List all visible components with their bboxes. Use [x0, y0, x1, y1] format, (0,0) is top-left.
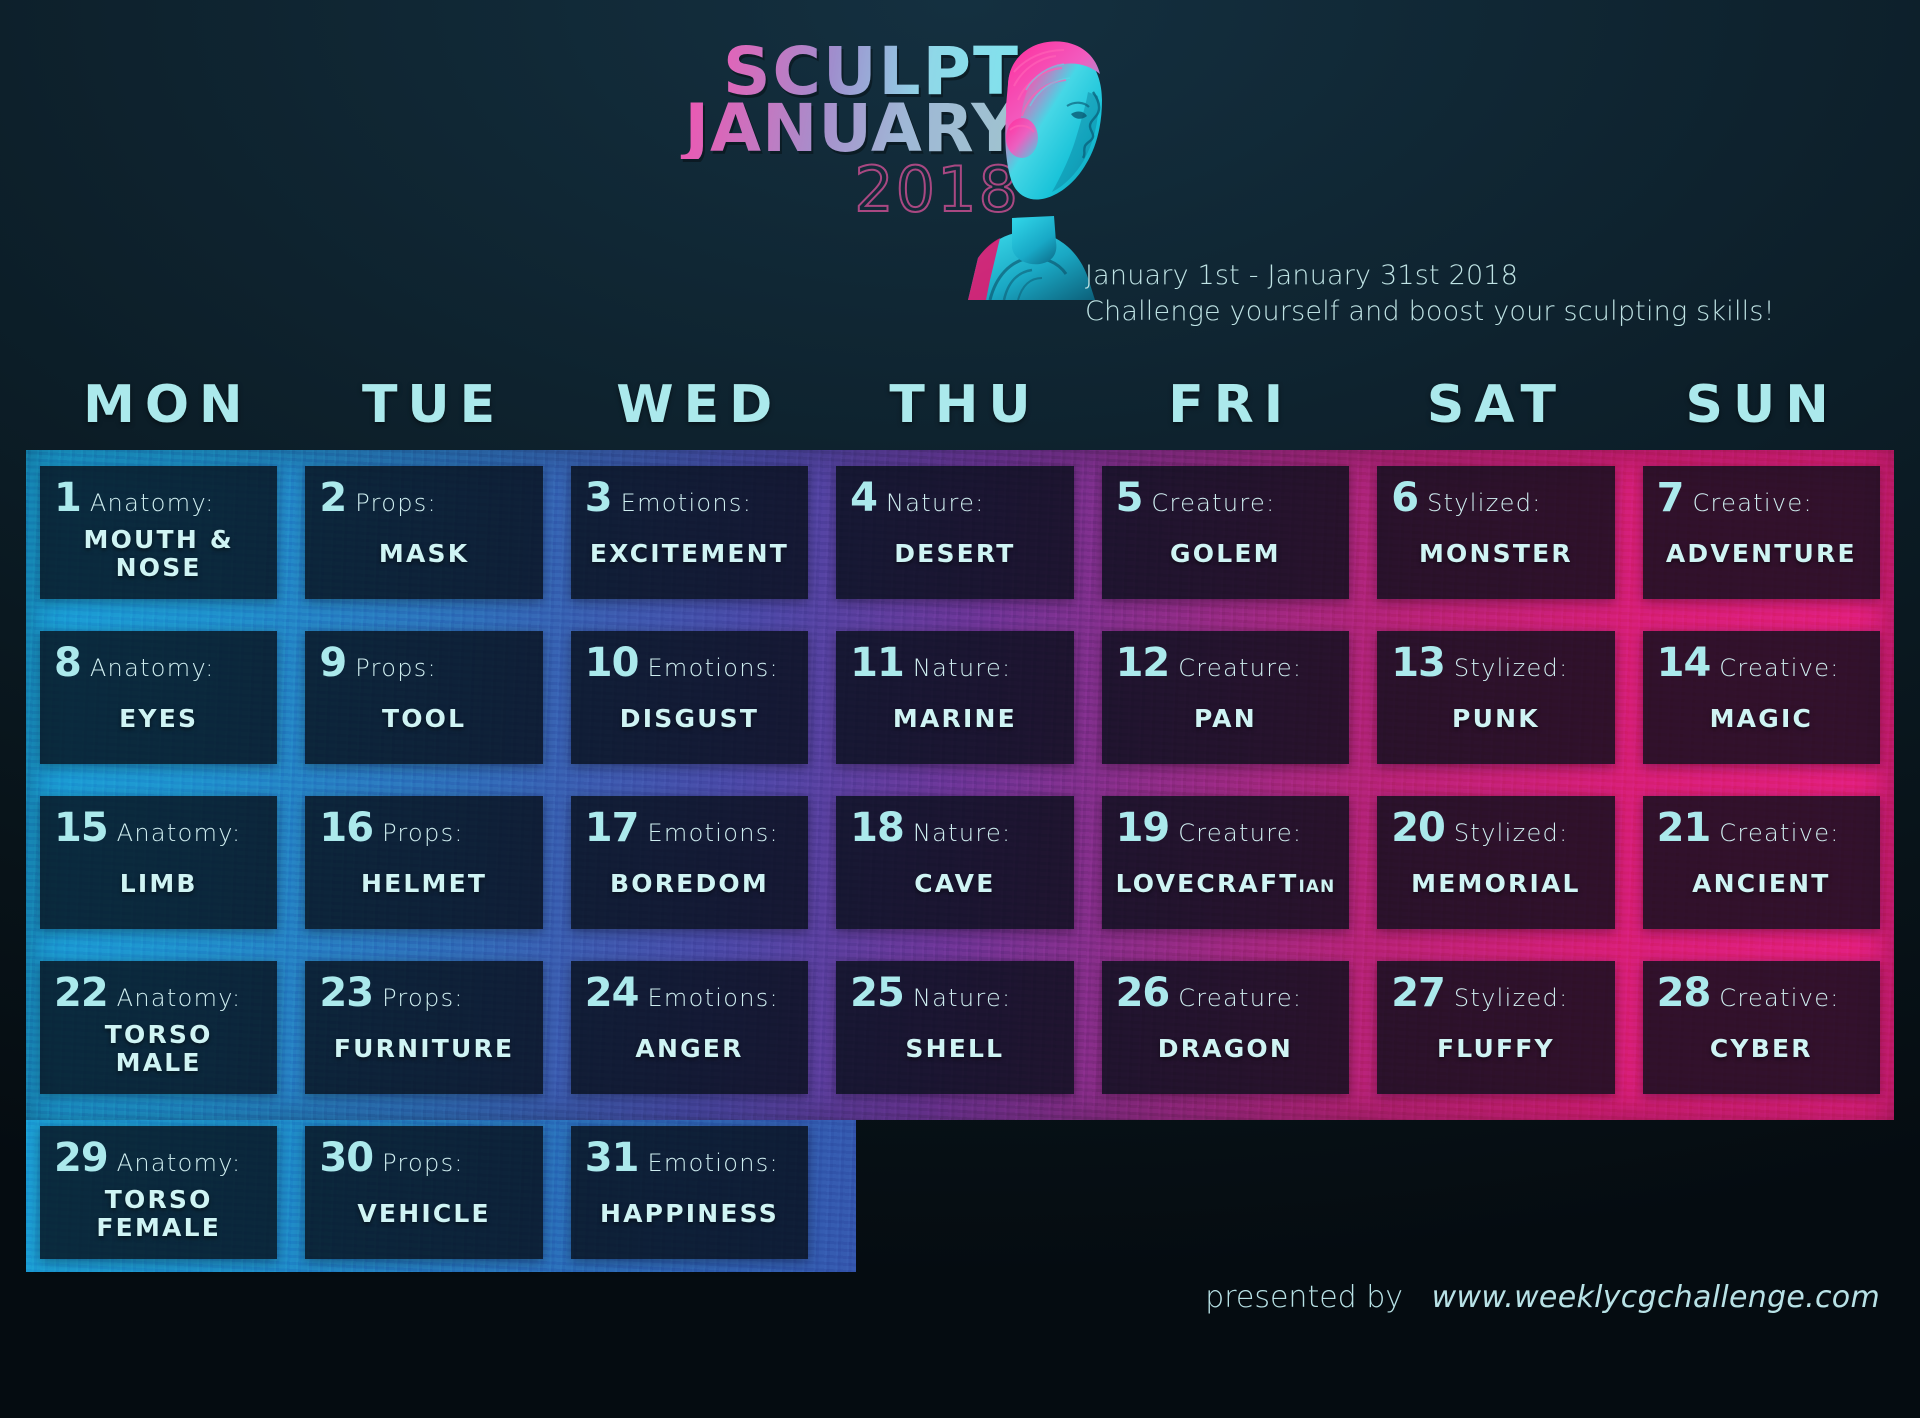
topic-label: HAPPINESS — [600, 1200, 779, 1228]
category-label: Props: — [355, 656, 437, 680]
calendar-cell[interactable]: 1Anatomy:MOUTH &NOSE — [40, 466, 277, 599]
calendar-cell-header: 28Creative: — [1657, 973, 1866, 1019]
topic-label: LOVECRAFTIAN — [1116, 870, 1336, 898]
topic-label: VEHICLE — [357, 1200, 490, 1228]
topic-container: LOVECRAFTIAN — [1116, 854, 1336, 915]
weekday-thu: THU — [827, 375, 1093, 435]
calendar-cell-header: 9Props: — [319, 643, 528, 689]
calendar-cell-header: 29Anatomy: — [54, 1138, 263, 1184]
category-label: Emotions: — [647, 821, 779, 845]
day-number: 9 — [319, 643, 346, 683]
topic-label: DRAGON — [1158, 1035, 1293, 1063]
weekday-mon: MON — [30, 375, 296, 435]
calendar-cell-header: 16Props: — [319, 808, 528, 854]
calendar-cell[interactable]: 20Stylized:MEMORIAL — [1377, 796, 1614, 929]
calendar-cell-header: 8Anatomy: — [54, 643, 263, 689]
calendar-cell-header: 21Creative: — [1657, 808, 1866, 854]
calendar-cell-header: 5Creature: — [1116, 478, 1336, 524]
topic-label: LIMB — [120, 870, 198, 898]
topic-label: PAN — [1194, 705, 1257, 733]
weekday-header-row: MON TUE WED THU FRI SAT SUN — [30, 375, 1890, 435]
category-label: Creature: — [1178, 986, 1302, 1010]
topic-container: EXCITEMENT — [585, 524, 794, 585]
topic-container: PUNK — [1391, 689, 1600, 750]
day-number: 18 — [850, 808, 904, 848]
subtitle-dates: January 1st - January 31st 2018 — [1085, 258, 1775, 294]
calendar-cell[interactable]: 4Nature:DESERT — [836, 466, 1073, 599]
footer-presented-by: presented by — [1205, 1280, 1403, 1315]
calendar-cell-header: 10Emotions: — [585, 643, 794, 689]
calendar-cell-header: 7Creative: — [1657, 478, 1866, 524]
topic-suffix: IAN — [1299, 877, 1336, 897]
category-label: Anatomy: — [90, 491, 215, 515]
day-number: 20 — [1391, 808, 1445, 848]
category-label: Stylized: — [1427, 491, 1542, 515]
calendar-cell-header: 18Nature: — [850, 808, 1059, 854]
topic-container: MARINE — [850, 689, 1059, 750]
category-label: Creature: — [1151, 491, 1275, 515]
calendar-cell-header: 23Props: — [319, 973, 528, 1019]
calendar-cell-header: 14Creative: — [1657, 643, 1866, 689]
topic-label: HELMET — [361, 870, 487, 898]
day-number: 19 — [1116, 808, 1170, 848]
category-label: Creature: — [1178, 821, 1302, 845]
day-number: 17 — [585, 808, 639, 848]
calendar-cell[interactable]: 9Props:TOOL — [305, 631, 542, 764]
footer-credit: presented by www.weeklycgchallenge.com — [1205, 1280, 1880, 1315]
calendar-grid: 1Anatomy:MOUTH &NOSE2Props:MASK3Emotions… — [26, 450, 1894, 1275]
category-label: Props: — [355, 491, 437, 515]
calendar-cell-header: 26Creature: — [1116, 973, 1336, 1019]
category-label: Stylized: — [1454, 986, 1569, 1010]
category-label: Creature: — [1178, 656, 1302, 680]
topic-container: HAPPINESS — [585, 1184, 794, 1245]
calendar-cell[interactable]: 10Emotions:DISGUST — [571, 631, 808, 764]
day-number: 7 — [1657, 478, 1684, 518]
calendar-cell[interactable]: 23Props:FURNITURE — [305, 961, 542, 1094]
day-number: 24 — [585, 973, 639, 1013]
calendar-cell-header: 20Stylized: — [1391, 808, 1600, 854]
topic-container: VEHICLE — [319, 1184, 528, 1245]
topic-container: ANCIENT — [1657, 854, 1866, 915]
category-label: Nature: — [886, 491, 985, 515]
topic-container: ANGER — [585, 1019, 794, 1080]
day-number: 26 — [1116, 973, 1170, 1013]
calendar-cell[interactable]: 15Anatomy:LIMB — [40, 796, 277, 929]
category-label: Stylized: — [1454, 656, 1569, 680]
calendar-cell[interactable]: 28Creative:CYBER — [1643, 961, 1880, 1094]
calendar-cell-header: 12Creature: — [1116, 643, 1336, 689]
calendar-cell-empty — [1102, 1126, 1350, 1259]
calendar-cell[interactable]: 29Anatomy:TORSOFEMALE — [40, 1126, 277, 1259]
topic-label: MAGIC — [1710, 705, 1813, 733]
topic-container: MEMORIAL — [1391, 854, 1600, 915]
calendar-cell-header: 13Stylized: — [1391, 643, 1600, 689]
day-number: 31 — [585, 1138, 639, 1178]
day-number: 27 — [1391, 973, 1445, 1013]
calendar-cell[interactable]: 8Anatomy:EYES — [40, 631, 277, 764]
calendar-cell[interactable]: 22Anatomy:TORSOMALE — [40, 961, 277, 1094]
topic-container: MASK — [319, 524, 528, 585]
category-label: Props: — [382, 821, 464, 845]
topic-label: EYES — [119, 705, 198, 733]
topic-label: BOREDOM — [610, 870, 769, 898]
calendar-cell[interactable]: 12Creature:PAN — [1102, 631, 1350, 764]
calendar-cell-header: 31Emotions: — [585, 1138, 794, 1184]
day-number: 11 — [850, 643, 904, 683]
category-label: Anatomy: — [90, 656, 215, 680]
topic-label: MASK — [379, 540, 469, 568]
calendar-cell[interactable]: 3Emotions:EXCITEMENT — [571, 466, 808, 599]
calendar-cell[interactable]: 16Props:HELMET — [305, 796, 542, 929]
calendar-cell[interactable]: 31Emotions:HAPPINESS — [571, 1126, 808, 1259]
calendar-cell-header: 15Anatomy: — [54, 808, 263, 854]
category-label: Stylized: — [1454, 821, 1569, 845]
day-number: 8 — [54, 643, 81, 683]
topic-container: SHELL — [850, 1019, 1059, 1080]
day-number: 29 — [54, 1138, 108, 1178]
calendar-cell[interactable]: 13Stylized:PUNK — [1377, 631, 1614, 764]
calendar-cell[interactable]: 2Props:MASK — [305, 466, 542, 599]
topic-container: TORSOMALE — [54, 1019, 263, 1080]
topic-label: CYBER — [1710, 1035, 1813, 1063]
calendar-cell[interactable]: 11Nature:MARINE — [836, 631, 1073, 764]
category-label: Creative: — [1692, 491, 1812, 515]
topic-container: FURNITURE — [319, 1019, 528, 1080]
poster-header: SCULPT JANUARY 2018 — [0, 0, 1920, 360]
category-label: Anatomy: — [117, 821, 242, 845]
topic-container: ADVENTURE — [1657, 524, 1866, 585]
topic-container: CAVE — [850, 854, 1059, 915]
topic-label: CAVE — [914, 870, 995, 898]
topic-container: DRAGON — [1116, 1019, 1336, 1080]
calendar-cell[interactable]: 30Props:VEHICLE — [305, 1126, 542, 1259]
topic-label: FURNITURE — [334, 1035, 514, 1063]
footer-url[interactable]: www.weeklycgchallenge.com — [1432, 1280, 1880, 1315]
event-subtitle: January 1st - January 31st 2018 Challeng… — [1085, 258, 1775, 331]
topic-label: MONSTER — [1419, 540, 1573, 568]
calendar-cell[interactable]: 7Creative:ADVENTURE — [1643, 466, 1880, 599]
weekday-sat: SAT — [1359, 375, 1625, 435]
day-number: 3 — [585, 478, 612, 518]
calendar-cell[interactable]: 17Emotions:BOREDOM — [571, 796, 808, 929]
category-label: Creative: — [1719, 656, 1839, 680]
calendar-cell[interactable]: 26Creature:DRAGON — [1102, 961, 1350, 1094]
day-number: 10 — [585, 643, 639, 683]
topic-label: PUNK — [1452, 705, 1540, 733]
calendar-cell-header: 17Emotions: — [585, 808, 794, 854]
topic-label: TORSOMALE — [105, 1021, 213, 1077]
topic-label: FLUFFY — [1437, 1035, 1555, 1063]
category-label: Creative: — [1719, 986, 1839, 1010]
day-number: 15 — [54, 808, 108, 848]
category-label: Creative: — [1719, 821, 1839, 845]
calendar-cell-header: 30Props: — [319, 1138, 528, 1184]
category-label: Anatomy: — [117, 986, 242, 1010]
topic-container: HELMET — [319, 854, 528, 915]
day-number: 2 — [319, 478, 346, 518]
calendar-cell[interactable]: 19Creature:LOVECRAFTIAN — [1102, 796, 1350, 929]
calendar-cell[interactable]: 14Creative:MAGIC — [1643, 631, 1880, 764]
day-number: 4 — [850, 478, 877, 518]
calendar-cell[interactable]: 5Creature:GOLEM — [1102, 466, 1350, 599]
topic-container: TOOL — [319, 689, 528, 750]
calendar-cell-header: 27Stylized: — [1391, 973, 1600, 1019]
calendar-cell[interactable]: 25Nature:SHELL — [836, 961, 1073, 1094]
calendar-cell-header: 19Creature: — [1116, 808, 1336, 854]
day-number: 21 — [1657, 808, 1711, 848]
topic-label: EXCITEMENT — [590, 540, 789, 568]
topic-label: MEMORIAL — [1411, 870, 1581, 898]
calendar-cell-empty — [1377, 1126, 1614, 1259]
category-label: Nature: — [913, 821, 1012, 845]
topic-container: MOUTH &NOSE — [54, 524, 263, 585]
day-number: 22 — [54, 973, 108, 1013]
weekday-wed: WED — [561, 375, 827, 435]
day-number: 28 — [1657, 973, 1711, 1013]
topic-container: DESERT — [850, 524, 1059, 585]
weekday-fri: FRI — [1093, 375, 1359, 435]
topic-container: EYES — [54, 689, 263, 750]
calendar-cell-empty — [836, 1126, 1073, 1259]
calendar-cell-empty — [1643, 1126, 1880, 1259]
category-label: Props: — [382, 986, 464, 1010]
day-number: 13 — [1391, 643, 1445, 683]
subtitle-tagline: Challenge yourself and boost your sculpt… — [1085, 294, 1775, 330]
topic-container: FLUFFY — [1391, 1019, 1600, 1080]
day-number: 14 — [1657, 643, 1711, 683]
topic-container: PAN — [1116, 689, 1336, 750]
category-label: Emotions: — [647, 656, 779, 680]
calendar-cell[interactable]: 18Nature:CAVE — [836, 796, 1073, 929]
topic-container: CYBER — [1657, 1019, 1866, 1080]
calendar-cell-header: 3Emotions: — [585, 478, 794, 524]
topic-label: TORSOFEMALE — [96, 1186, 221, 1242]
calendar-cell-header: 25Nature: — [850, 973, 1059, 1019]
topic-label: MARINE — [893, 705, 1017, 733]
topic-label: DISGUST — [620, 705, 759, 733]
calendar-cell-header: 6Stylized: — [1391, 478, 1600, 524]
category-label: Nature: — [913, 986, 1012, 1010]
day-number: 25 — [850, 973, 904, 1013]
calendar-cell[interactable]: 6Stylized:MONSTER — [1377, 466, 1614, 599]
topic-label: SHELL — [905, 1035, 1004, 1063]
day-number: 12 — [1116, 643, 1170, 683]
calendar-cell[interactable]: 27Stylized:FLUFFY — [1377, 961, 1614, 1094]
category-label: Emotions: — [621, 491, 753, 515]
day-number: 16 — [319, 808, 373, 848]
topic-container: LIMB — [54, 854, 263, 915]
calendar-cell-header: 4Nature: — [850, 478, 1059, 524]
topic-label: ADVENTURE — [1666, 540, 1857, 568]
topic-label: TOOL — [382, 705, 466, 733]
category-label: Emotions: — [647, 1151, 779, 1175]
topic-container: MAGIC — [1657, 689, 1866, 750]
day-number: 30 — [319, 1138, 373, 1178]
day-number: 1 — [54, 478, 81, 518]
calendar-cell-header: 1Anatomy: — [54, 478, 263, 524]
topic-label: ANGER — [635, 1035, 743, 1063]
calendar-cell-header: 2Props: — [319, 478, 528, 524]
weekday-tue: TUE — [296, 375, 562, 435]
calendar-cell-header: 22Anatomy: — [54, 973, 263, 1019]
weekday-sun: SUN — [1624, 375, 1890, 435]
topic-container: BOREDOM — [585, 854, 794, 915]
category-label: Emotions: — [647, 986, 779, 1010]
calendar-cell-header: 24Emotions: — [585, 973, 794, 1019]
topic-label: GOLEM — [1170, 540, 1281, 568]
calendar-cell[interactable]: 21Creative:ANCIENT — [1643, 796, 1880, 929]
topic-label: ANCIENT — [1692, 870, 1830, 898]
topic-container: TORSOFEMALE — [54, 1184, 263, 1245]
category-label: Anatomy: — [117, 1151, 242, 1175]
topic-label: MOUTH &NOSE — [84, 526, 234, 582]
topic-container: MONSTER — [1391, 524, 1600, 585]
category-label: Props: — [382, 1151, 464, 1175]
topic-label: DESERT — [894, 540, 1015, 568]
topic-container: GOLEM — [1116, 524, 1336, 585]
day-number: 5 — [1116, 478, 1143, 518]
category-label: Nature: — [913, 656, 1012, 680]
topic-container: DISGUST — [585, 689, 794, 750]
day-number: 6 — [1391, 478, 1418, 518]
calendar-cell-header: 11Nature: — [850, 643, 1059, 689]
calendar-cell[interactable]: 24Emotions:ANGER — [571, 961, 808, 1094]
day-number: 23 — [319, 973, 373, 1013]
